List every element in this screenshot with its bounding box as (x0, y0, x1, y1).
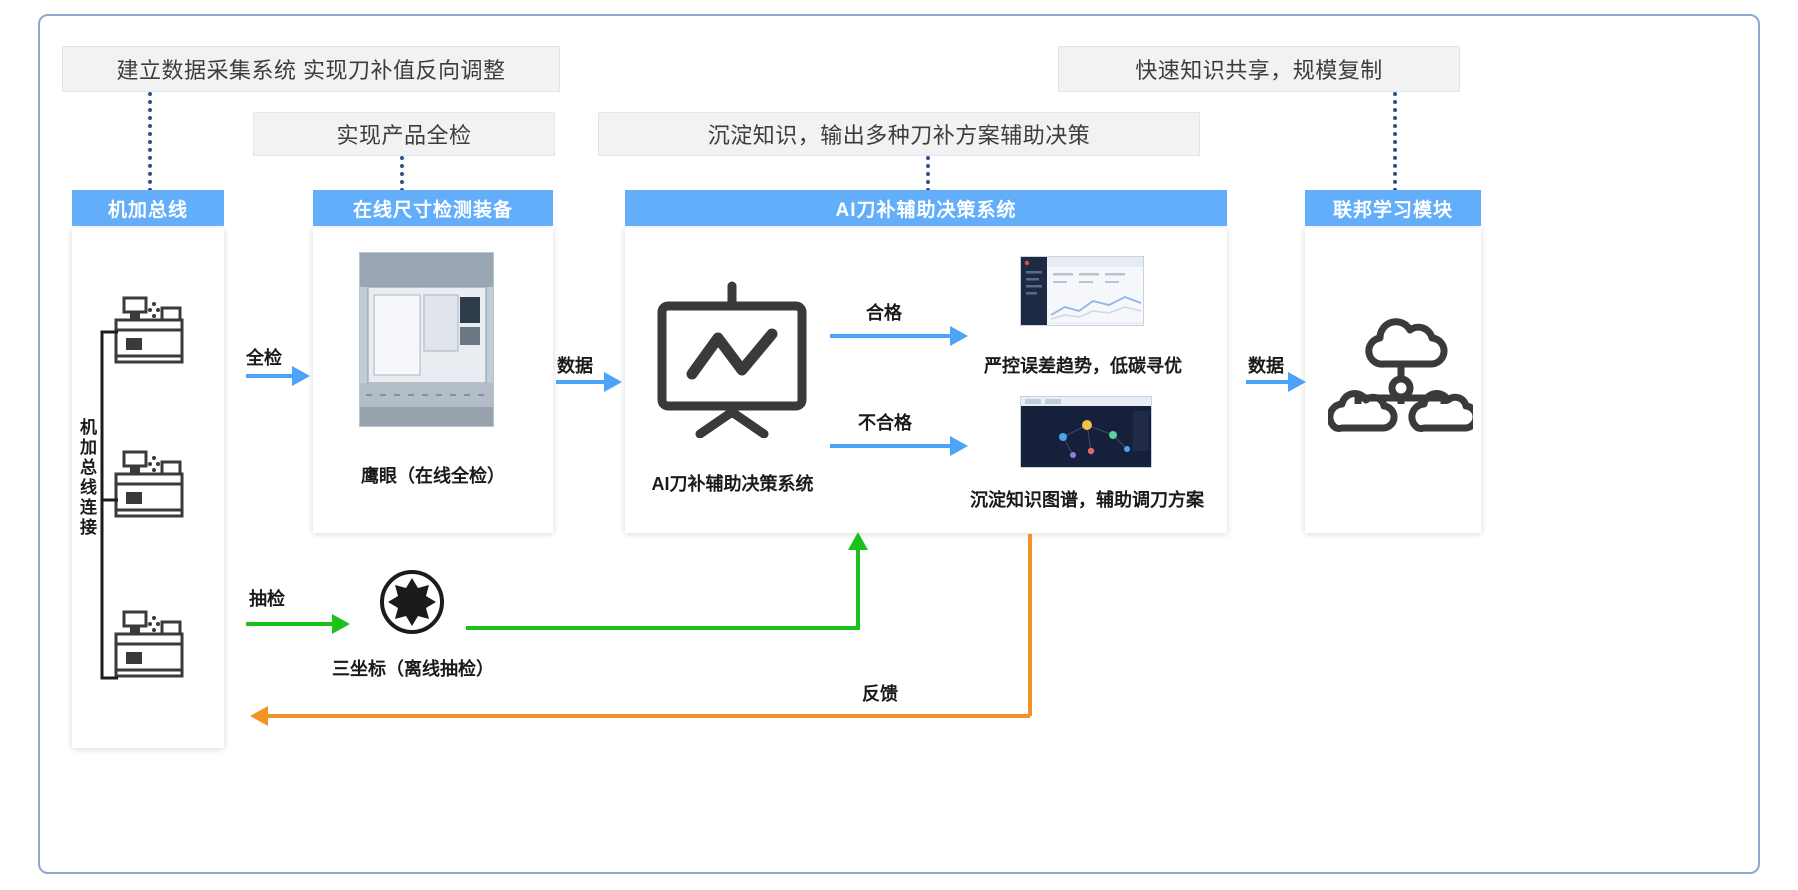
sampling-run-vertical (856, 548, 860, 628)
bus-vertical-label: 机加总线连接 (78, 418, 95, 538)
knowledge-graph-thumbnail (1020, 396, 1152, 468)
banner-ai-decision-label: AI刀补辅助决策系统 (835, 195, 1016, 222)
edge-label-pass: 合格 (866, 299, 902, 325)
cmm-gear-icon (378, 568, 446, 636)
note-full-inspection-label: 实现产品全检 (336, 118, 471, 150)
feedback-horizontal (268, 714, 1030, 718)
caption-eagle-eye: 鹰眼（在线全检） (313, 462, 553, 488)
note-knowledge-label: 沉淀知识，输出多种刀补方案辅助决策 (708, 118, 1091, 150)
banner-federated-label: 联邦学习模块 (1333, 195, 1453, 222)
machine-icon-3 (110, 610, 210, 690)
arrow-full-inspection-head (292, 366, 310, 386)
dotted-connector-4 (1393, 92, 1397, 192)
banner-machining-bus-label: 机加总线 (108, 195, 188, 222)
arrow-sampling-head (332, 614, 350, 634)
caption-trend: 严控误差趋势，低碳寻优 (952, 352, 1214, 378)
eagle-eye-photo (359, 252, 494, 427)
dotted-connector-3 (926, 156, 930, 192)
banner-machining-bus[interactable]: 机加总线 (72, 190, 224, 226)
arrow-sampling-line (246, 622, 332, 626)
edge-label-fail: 不合格 (858, 409, 912, 435)
caption-ai-system: AI刀补辅助决策系统 (625, 470, 840, 496)
arrow-full-inspection-line (246, 374, 292, 378)
sampling-run-horizontal (466, 626, 860, 630)
arrow-pass-head (950, 326, 968, 346)
sampling-run-arrowhead (848, 532, 868, 550)
bus-bracket (96, 330, 122, 680)
feedback-vertical (1028, 534, 1032, 716)
note-federated: 快速知识共享，规模复制 (1058, 46, 1460, 92)
note-full-inspection: 实现产品全检 (253, 112, 555, 156)
caption-graph: 沉淀知识图谱，辅助调刀方案 (944, 486, 1230, 512)
banner-online-measure-label: 在线尺寸检测装备 (353, 195, 513, 222)
feedback-arrowhead (250, 706, 268, 726)
edge-label-feedback: 反馈 (862, 680, 898, 706)
edge-label-full-inspection: 全检 (246, 344, 282, 370)
trend-dashboard-thumbnail (1020, 256, 1144, 326)
edge-label-data-to-fed: 数据 (1248, 352, 1284, 378)
arrow-fail-line (830, 444, 950, 448)
arrow-data-to-fed-head (1288, 372, 1306, 392)
edge-label-data-to-ai: 数据 (557, 352, 593, 378)
note-data-collection: 建立数据采集系统 实现刀补值反向调整 (62, 46, 560, 92)
dotted-connector-2 (400, 156, 404, 192)
arrow-data-to-fed-line (1246, 380, 1288, 384)
banner-federated[interactable]: 联邦学习模块 (1305, 190, 1481, 226)
edge-label-sampling: 抽检 (249, 585, 285, 611)
arrow-pass-line (830, 334, 950, 338)
note-federated-label: 快速知识共享，规模复制 (1135, 53, 1383, 85)
presentation-chart-icon (652, 278, 812, 438)
dotted-connector-1 (148, 92, 152, 192)
arrow-data-to-ai-head (604, 372, 622, 392)
arrow-data-to-ai-line (556, 380, 604, 384)
machine-icon-2 (110, 450, 210, 530)
machine-icon-1 (110, 296, 210, 376)
federated-cloud-icon (1328, 300, 1473, 445)
note-knowledge: 沉淀知识，输出多种刀补方案辅助决策 (598, 112, 1200, 156)
arrow-fail-head (950, 436, 968, 456)
banner-online-measure[interactable]: 在线尺寸检测装备 (313, 190, 553, 226)
diagram-canvas: 建立数据采集系统 实现刀补值反向调整 实现产品全检 沉淀知识，输出多种刀补方案辅… (0, 0, 1798, 890)
banner-ai-decision[interactable]: AI刀补辅助决策系统 (625, 190, 1227, 226)
note-data-collection-label: 建立数据采集系统 实现刀补值反向调整 (116, 53, 505, 85)
caption-cmm: 三坐标（离线抽检） (288, 655, 538, 681)
photo-contents (360, 253, 494, 427)
